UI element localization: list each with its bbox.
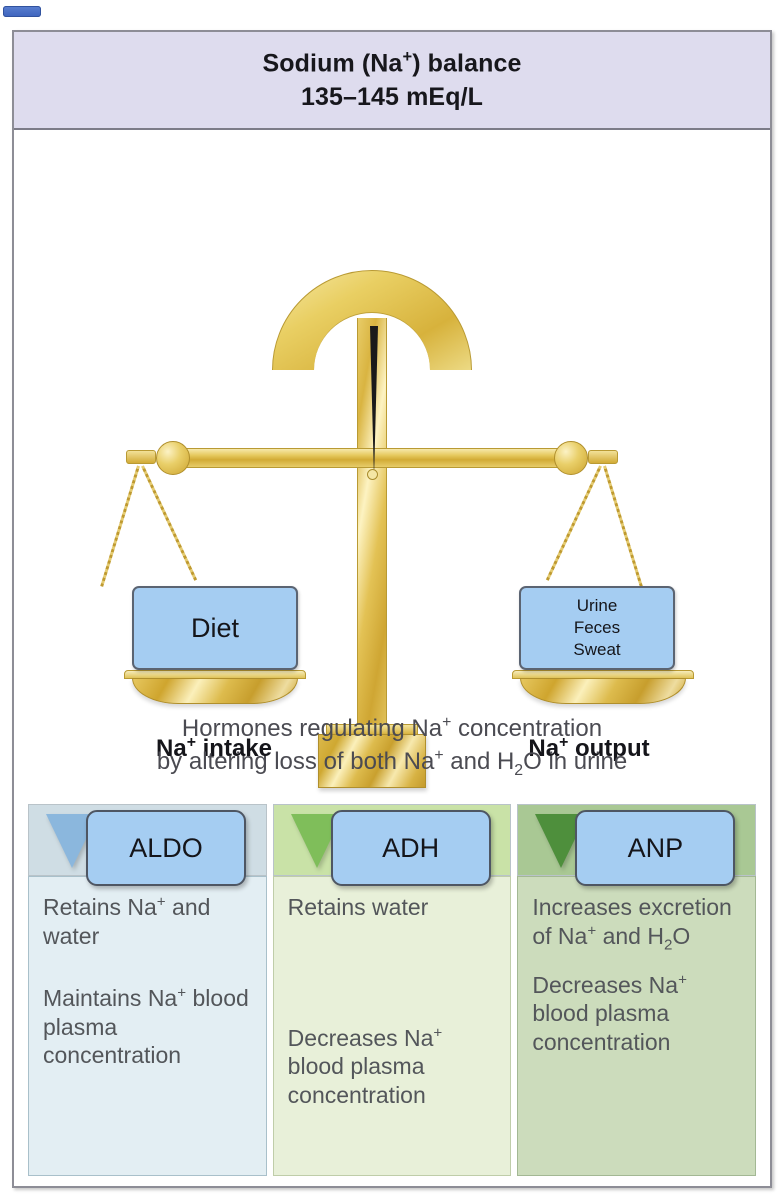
output-line-sweat: Sweat: [573, 639, 620, 661]
anp-effect1-text-mid: and H: [596, 923, 664, 949]
hormones-caption: Hormones regulating Na+ concentration by…: [14, 712, 770, 781]
hormone-column-aldo: ALDO Retains Na+ and water Maintains Na+…: [28, 804, 267, 1176]
caption-line1-text-end: concentration: [451, 715, 602, 742]
hormone-badge-adh[interactable]: ADH: [331, 810, 491, 886]
caption-line2-text-mid: and H: [444, 748, 515, 775]
anp-effect1-superscript: +: [587, 922, 596, 939]
header-title-line2: 135–145 mEq/L: [301, 83, 483, 112]
scale-pan-left: [124, 670, 306, 704]
scale-chain-left-outer: [100, 466, 140, 587]
caption-line2-subscript: 2: [514, 762, 523, 779]
hormone-panel-aldo: Retains Na+ and water Maintains Na+ bloo…: [28, 876, 267, 1176]
hormone-effect-secondary-adh: Decreases Na+ blood plasma concentration: [288, 1024, 499, 1110]
caption-line1-superscript: +: [442, 714, 451, 731]
anp-effect2-text-end: blood plasma concentration: [532, 1000, 670, 1055]
sodium-balance-figure: Sodium (Na+) balance 135–145 mEq/L: [12, 30, 772, 1188]
hormone-column-adh: ADH Retains water Decreases Na+ blood pl…: [273, 804, 512, 1176]
hormone-panel-adh: Retains water Decreases Na+ blood plasma…: [273, 876, 512, 1176]
hormone-effect-secondary-anp: Decreases Na+ blood plasma concentration: [532, 971, 743, 1057]
hormone-badge-label-anp: ANP: [628, 833, 684, 864]
adh-effect2-superscript: +: [433, 1024, 442, 1041]
scale-pivot: [367, 469, 378, 480]
header-title-superscript: +: [402, 48, 412, 66]
aldo-effect2-text: Maintains Na: [43, 985, 177, 1011]
output-line-urine: Urine: [577, 595, 618, 617]
scale-chain-right-outer: [603, 466, 643, 587]
adh-effect2-text: Decreases Na: [288, 1025, 434, 1051]
header-title-text: Sodium (Na: [263, 50, 403, 78]
anp-effect2-text: Decreases Na: [532, 972, 678, 998]
scale-knob-left: [156, 441, 190, 475]
hormone-badge-label-adh: ADH: [382, 833, 439, 864]
adh-effect2-text-end: blood plasma concentration: [288, 1053, 426, 1108]
caption-line-1: Hormones regulating Na+ concentration: [14, 712, 770, 745]
hormone-badge-aldo[interactable]: ALDO: [86, 810, 246, 886]
anp-effect1-text-end: O: [672, 923, 690, 949]
scale-knob-right: [554, 441, 588, 475]
figure-header: Sodium (Na+) balance 135–145 mEq/L: [14, 32, 770, 130]
anp-effect2-superscript: +: [678, 971, 687, 988]
scale-needle: [370, 326, 378, 478]
scale-pan-right: [512, 670, 694, 704]
scale-chain-left-inner: [141, 465, 197, 580]
selection-chip[interactable]: [3, 6, 41, 17]
aldo-effect1-text: Retains Na: [43, 894, 157, 920]
caption-line2-text-end: O in urine: [523, 748, 627, 775]
hormone-badge-anp[interactable]: ANP: [575, 810, 735, 886]
scale-chain-right-inner: [546, 465, 602, 580]
caption-line2-text: by altering loss of both Na: [157, 748, 435, 775]
hormone-effect-primary-aldo: Retains Na+ and water: [43, 893, 254, 950]
header-title-text-end: ) balance: [412, 50, 521, 78]
scale-beam-tip-right: [588, 450, 618, 464]
caption-line2-superscript: +: [434, 747, 443, 764]
output-line-feces: Feces: [574, 617, 620, 639]
hormone-column-anp: ANP Increases excretion of Na+ and H2O D…: [517, 804, 756, 1176]
hormone-panel-anp: Increases excretion of Na+ and H2O Decre…: [517, 876, 756, 1176]
header-title-line1: Sodium (Na+) balance: [263, 48, 522, 78]
output-box: Urine Feces Sweat: [519, 586, 675, 670]
balance-scale-illustration: Diet Na+ intake Urine Feces Sweat Na+ ou…: [14, 130, 770, 690]
caption-line-2: by altering loss of both Na+ and H2O in …: [14, 745, 770, 781]
figure-root: Sodium (Na+) balance 135–145 mEq/L: [0, 0, 784, 1200]
caption-line1-text: Hormones regulating Na: [182, 715, 442, 742]
hormone-columns: ALDO Retains Na+ and water Maintains Na+…: [28, 804, 756, 1176]
hormone-effect-primary-anp: Increases excretion of Na+ and H2O: [532, 893, 743, 955]
hormone-effect-primary-adh: Retains water: [288, 893, 499, 922]
aldo-effect2-superscript: +: [177, 984, 186, 1001]
adh-effect1-text: Retains water: [288, 894, 429, 920]
scale-beam-tip-left: [126, 450, 156, 464]
diet-box: Diet: [132, 586, 298, 670]
diet-label: Diet: [191, 613, 239, 644]
hormone-badge-label-aldo: ALDO: [129, 833, 203, 864]
hormone-effect-secondary-aldo: Maintains Na+ blood plasma concentration: [43, 984, 254, 1070]
aldo-effect1-superscript: +: [157, 893, 166, 910]
